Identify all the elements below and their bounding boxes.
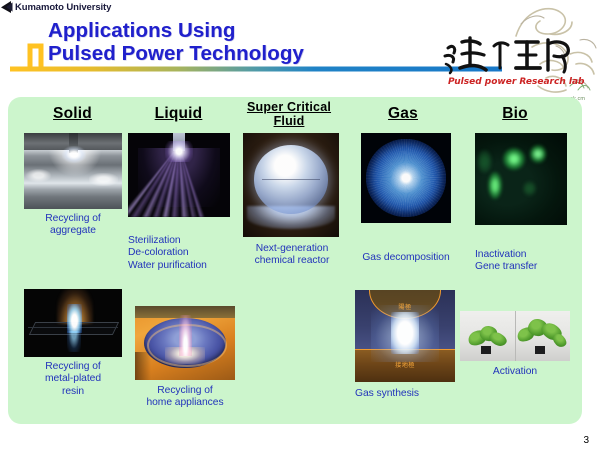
- lab-logo-romanized: Pulsed power Research lab: [448, 77, 585, 87]
- metallic-cylinder-photo: [24, 133, 122, 209]
- blue-radial-gas-discharge-photo: [361, 133, 451, 223]
- caption-gas-synthesis: Gas synthesis: [355, 388, 471, 400]
- page-number: 3: [583, 435, 589, 446]
- left-chevron-logo-icon: [0, 0, 13, 14]
- column-heading-solid: Solid: [20, 106, 125, 122]
- gas-synthesis-electrodes-photo: 陽極 接地極: [355, 290, 455, 382]
- caption-inactivation-gene-transfer: Inactivation Gene transfer: [475, 249, 583, 274]
- column-heading-gas-label: Gas: [388, 105, 418, 122]
- photo-label-anode: 陽極: [355, 302, 455, 311]
- plasma-jet-on-plate-photo: [24, 289, 122, 357]
- home-appliance-reactor-photo: [135, 306, 235, 380]
- caption-gas-decomposition: Gas decomposition: [344, 252, 468, 264]
- column-heading-solid-label: Solid: [53, 105, 92, 122]
- column-heading-liquid: Liquid: [126, 106, 231, 122]
- caption-activation: Activation: [460, 366, 570, 378]
- column-heading-liquid-label: Liquid: [155, 105, 203, 122]
- column-heading-bio: Bio: [460, 106, 570, 122]
- glowing-sphere-reactor-photo: [243, 133, 339, 237]
- page-title-line-2: Pulsed Power Technology: [48, 42, 448, 65]
- purple-streamer-discharge-photo: [128, 133, 230, 217]
- caption-next-generation-chemical-reactor: Next-generation chemical reactor: [236, 243, 348, 268]
- lettuce-plants-photo: [460, 311, 570, 361]
- page-title: Applications Using Pulsed Power Technolo…: [48, 19, 448, 65]
- pulsed-power-lab-logo: Pulsed power Research lab ek.cm: [420, 0, 600, 105]
- caption-recycling-of-home-appliances: Recycling of home appliances: [126, 385, 244, 410]
- column-heading-gas: Gas: [348, 106, 458, 122]
- applications-panel: Solid Liquid Super Critical Fluid Gas Bi…: [8, 97, 582, 424]
- caption-recycling-of-metal-plated-resin: Recycling of metal-plated resin: [18, 361, 128, 398]
- institution-brand: Kumamoto University: [0, 0, 111, 14]
- column-heading-bio-label: Bio: [502, 105, 528, 122]
- institution-name: Kumamoto University: [15, 2, 111, 13]
- slide-canvas: Kumamoto University Applications Using: [0, 0, 600, 450]
- column-heading-super-critical-fluid: Super Critical Fluid: [230, 101, 348, 128]
- column-heading-super-critical-fluid-label: Super Critical Fluid: [247, 100, 331, 128]
- green-fluorescent-cells-photo: [475, 133, 567, 225]
- photo-label-ground-electrode: 接地極: [355, 360, 455, 369]
- caption-sterilization-decoloration-water-purification: Sterilization De-coloration Water purifi…: [128, 235, 246, 272]
- caption-recycling-of-aggregate: Recycling of aggregate: [20, 213, 126, 238]
- page-title-line-1: Applications Using: [48, 19, 448, 42]
